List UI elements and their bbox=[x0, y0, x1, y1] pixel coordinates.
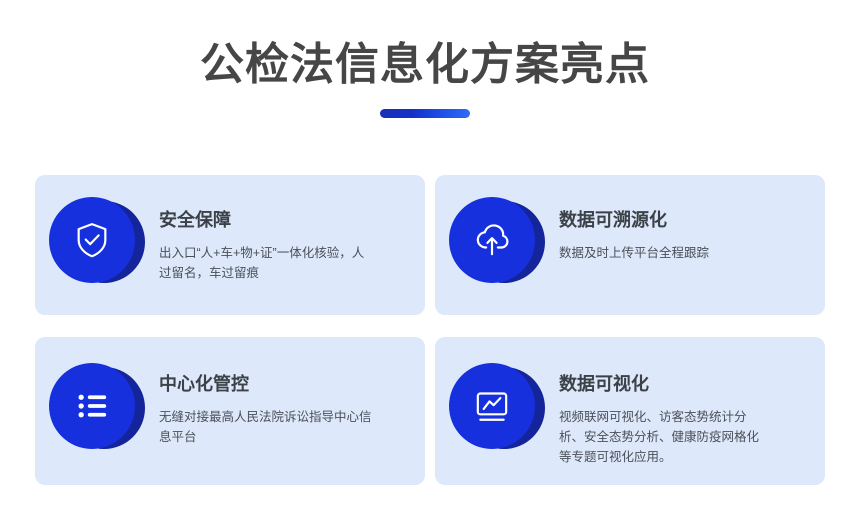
card-text-block: 数据可视化 视频联网可视化、访客态势统计分析、安全态势分析、健康防疫网格化等专题… bbox=[545, 337, 825, 467]
title-underline-bar bbox=[380, 109, 470, 118]
icon-badge-circle bbox=[49, 197, 135, 283]
card-title: 数据可溯源化 bbox=[559, 209, 809, 231]
cloud-upload-icon bbox=[472, 220, 512, 260]
icon-badge-circle bbox=[49, 363, 135, 449]
icon-badge-circle bbox=[449, 363, 535, 449]
card-text-block: 中心化管控 无缝对接最高人民法院诉讼指导中心信息平台 bbox=[145, 337, 425, 447]
highlight-card-data-traceability[interactable]: 数据可溯源化 数据及时上传平台全程跟踪 bbox=[435, 175, 825, 315]
highlight-cards-grid: 安全保障 出入口“人+车+物+证”一体化核验，人过留名，车过留痕 数据可溯源化 … bbox=[35, 175, 825, 485]
card-text-block: 数据可溯源化 数据及时上传平台全程跟踪 bbox=[545, 175, 825, 263]
icon-badge bbox=[49, 197, 145, 293]
icon-badge-circle bbox=[449, 197, 535, 283]
card-title: 数据可视化 bbox=[559, 373, 809, 395]
chart-monitor-icon bbox=[472, 386, 512, 426]
card-text-block: 安全保障 出入口“人+车+物+证”一体化核验，人过留名，车过留痕 bbox=[145, 175, 425, 283]
list-icon bbox=[72, 386, 112, 426]
page-root: 公检法信息化方案亮点 安全保障 出入口“人+车+物+证”一体化核验，人过留名，车… bbox=[0, 0, 850, 516]
icon-badge bbox=[49, 363, 145, 459]
highlight-card-security[interactable]: 安全保障 出入口“人+车+物+证”一体化核验，人过留名，车过留痕 bbox=[35, 175, 425, 315]
card-title: 中心化管控 bbox=[159, 373, 409, 395]
card-description: 视频联网可视化、访客态势统计分析、安全态势分析、健康防疫网格化等专题可视化应用。 bbox=[559, 407, 759, 467]
page-header: 公检法信息化方案亮点 bbox=[0, 0, 850, 118]
card-description: 数据及时上传平台全程跟踪 bbox=[559, 243, 809, 263]
card-title: 安全保障 bbox=[159, 209, 409, 231]
icon-badge bbox=[449, 197, 545, 293]
highlight-card-data-visualization[interactable]: 数据可视化 视频联网可视化、访客态势统计分析、安全态势分析、健康防疫网格化等专题… bbox=[435, 337, 825, 485]
card-description: 无缝对接最高人民法院诉讼指导中心信息平台 bbox=[159, 407, 374, 447]
card-description: 出入口“人+车+物+证”一体化核验，人过留名，车过留痕 bbox=[159, 243, 374, 283]
icon-badge bbox=[449, 363, 545, 459]
highlight-card-centralized-control[interactable]: 中心化管控 无缝对接最高人民法院诉讼指导中心信息平台 bbox=[35, 337, 425, 485]
shield-check-icon bbox=[72, 220, 112, 260]
page-title: 公检法信息化方案亮点 bbox=[0, 38, 850, 92]
